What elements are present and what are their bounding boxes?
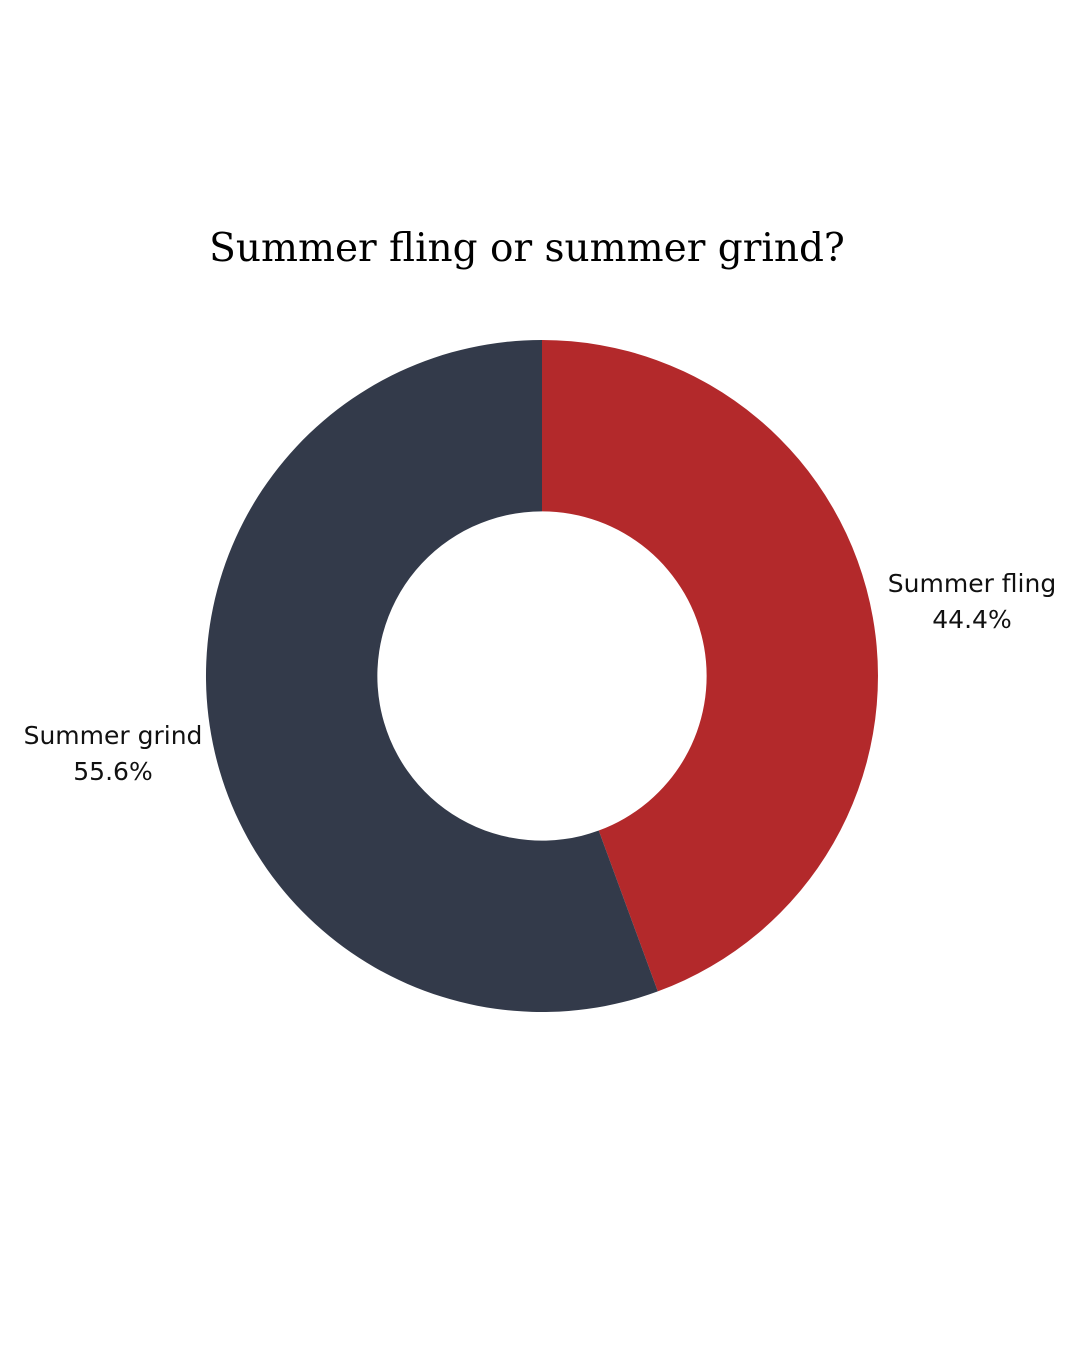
chart-canvas: Summer fling or summer grind? Summer fli… xyxy=(0,0,1080,1350)
slice-label-summer-fling-name: Summer fling xyxy=(886,566,1058,602)
slice-label-summer-grind: Summer grind 55.6% xyxy=(22,718,204,789)
slice-label-summer-grind-percent: 55.6% xyxy=(22,754,204,790)
slice-label-summer-grind-name: Summer grind xyxy=(22,718,204,754)
donut-chart xyxy=(0,0,1080,1350)
slice-label-summer-fling-percent: 44.4% xyxy=(886,602,1058,638)
slice-label-summer-fling: Summer fling 44.4% xyxy=(886,566,1058,637)
